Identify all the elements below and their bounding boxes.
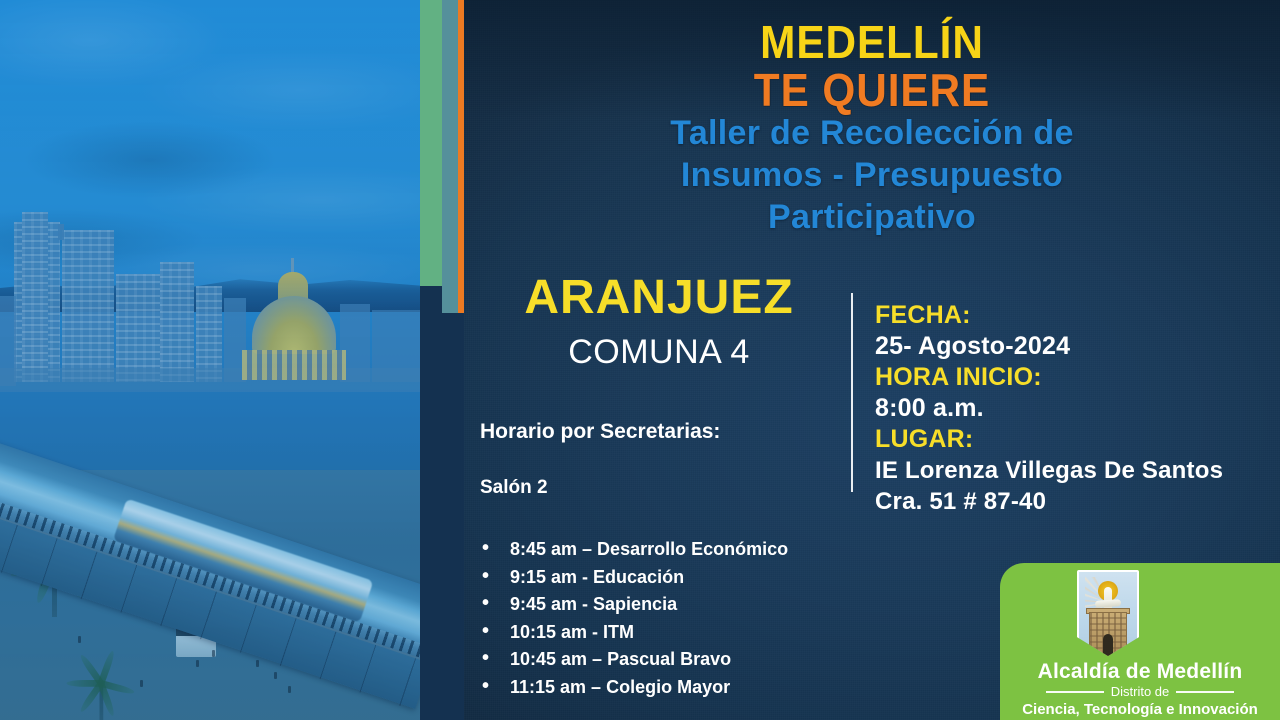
logo-tagline: Ciencia, Tecnología e Innovación <box>1000 701 1280 719</box>
list-item: 11:15 am – Colegio Mayor <box>476 674 876 702</box>
schedule-room: Salón 2 <box>480 476 548 500</box>
event-poster: MEDELLÍN TE QUIERE Taller de Recolección… <box>0 0 1280 720</box>
brand-lockup: MEDELLÍN TE QUIERE <box>464 18 1280 114</box>
fecha-value: 25- Agosto-2024 <box>875 331 1275 362</box>
subtitle-line-3: Participativo <box>500 196 1244 238</box>
medellin-coat-of-arms-icon <box>1077 570 1139 656</box>
fecha-label: FECHA: <box>875 300 1275 331</box>
comuna-name: ARANJUEZ <box>464 272 854 324</box>
alcaldia-logo: Alcaldía de Medellín Distrito de Ciencia… <box>1000 563 1280 720</box>
list-item: 9:45 am - Sapiencia <box>476 591 876 619</box>
lugar-label: LUGAR: <box>875 424 1275 455</box>
vertical-divider <box>851 293 853 492</box>
logo-distrito: Distrito de <box>1111 684 1170 700</box>
rule-right <box>1176 691 1234 693</box>
list-item: 8:45 am – Desarrollo Económico <box>476 536 876 564</box>
schedule-heading: Horario por Secretarias: <box>480 419 720 445</box>
photo-blue-tint <box>0 0 420 720</box>
list-item: 10:15 am - ITM <box>476 619 876 647</box>
event-details: FECHA: 25- Agosto-2024 HORA INICIO: 8:00… <box>875 300 1275 517</box>
hora-label: HORA INICIO: <box>875 362 1275 393</box>
brand-te-quiere: TE QUIERE <box>497 66 1248 114</box>
accent-stripe-green <box>420 0 442 286</box>
list-item: 10:45 am – Pascual Bravo <box>476 646 876 674</box>
lugar-value-venue: IE Lorenza Villegas De Santos <box>875 455 1275 486</box>
rule-left <box>1046 691 1104 693</box>
brand-medellin: MEDELLÍN <box>497 18 1248 66</box>
hora-value: 8:00 a.m. <box>875 393 1275 424</box>
medellin-cityscape-photo <box>0 0 420 720</box>
list-item: 9:15 am - Educación <box>476 564 876 592</box>
event-subtitle: Taller de Recolección de Insumos - Presu… <box>500 112 1244 238</box>
subtitle-line-2: Insumos - Presupuesto <box>500 154 1244 196</box>
comuna-number: COMUNA 4 <box>464 332 854 372</box>
lugar-value-address: Cra. 51 # 87-40 <box>875 486 1275 517</box>
logo-name: Alcaldía de Medellín <box>1000 659 1280 684</box>
logo-distrito-row: Distrito de <box>1000 684 1280 700</box>
schedule-list: 8:45 am – Desarrollo Económico 9:15 am -… <box>476 536 876 701</box>
subtitle-line-1: Taller de Recolección de <box>500 112 1244 154</box>
accent-stripe-teal <box>442 0 458 313</box>
